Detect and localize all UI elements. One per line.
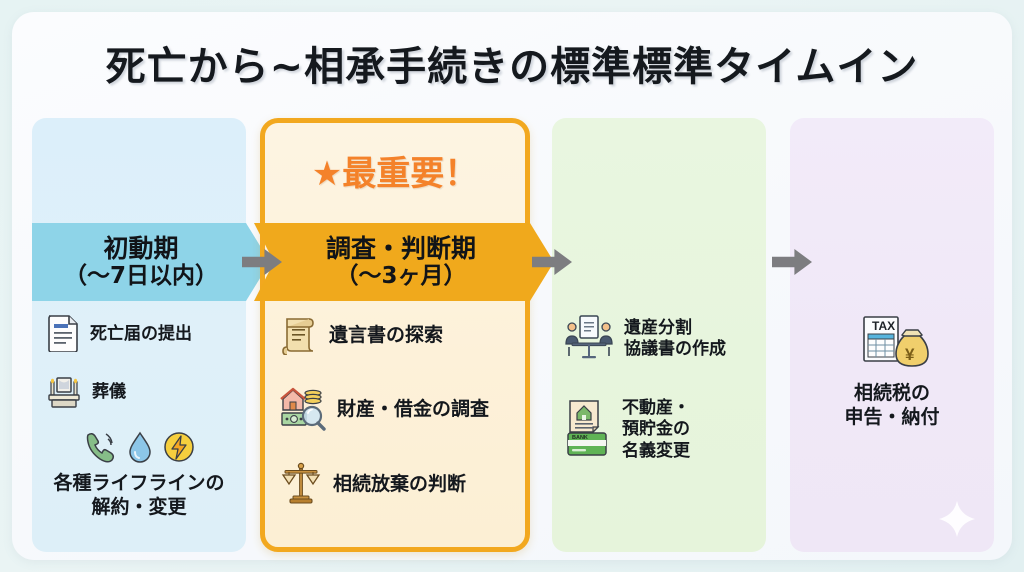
item-label: 相続放棄の判断 xyxy=(333,473,466,497)
phase-card-1[interactable]: 初動期 （〜7日以内） 死亡届の提出 xyxy=(32,118,246,552)
tax-moneybag-icon: TAX ¥ xyxy=(854,314,930,378)
phase-card-3[interactable]: 協議・手続き期 （〜10ヶ月） xyxy=(552,118,766,552)
assets-magnifier-icon xyxy=(279,385,327,435)
list-item[interactable]: 死亡届の提出 xyxy=(46,314,232,356)
phase-card-4[interactable]: 申告・納税期 （〜10ヶ月） TAX ¥ xyxy=(790,118,994,552)
item-label: 死亡届の提出 xyxy=(90,324,192,345)
list-item[interactable]: 各種ライフラインの 解約・変更 xyxy=(46,430,232,520)
item-label: 葬儀 xyxy=(92,382,126,403)
phase-banner-1: 初動期 （〜7日以内） xyxy=(32,223,270,301)
page-title: 死亡から~相承手続きの標準標準タイムイン xyxy=(0,34,1024,92)
item-label: 不動産・ 預貯金の 名義変更 xyxy=(622,398,690,462)
list-item[interactable]: 財産・借金の調査 xyxy=(279,385,511,435)
svg-text:BANK: BANK xyxy=(572,435,588,441)
phone-icon xyxy=(82,430,118,468)
funeral-altar-icon xyxy=(46,372,82,414)
list-item[interactable]: 相続放棄の判断 xyxy=(279,461,511,509)
timeline-columns: 初動期 （〜7日以内） 死亡届の提出 xyxy=(32,118,994,552)
phase-name-1: 初動期 xyxy=(103,234,178,264)
phase-name-2: 調査・判断期 xyxy=(326,234,476,264)
meeting-document-icon xyxy=(564,314,614,364)
list-item[interactable]: BANK 不動産・ 預貯金の 名義変更 xyxy=(564,398,754,462)
phase-items-4: TAX ¥ 相続税の 申告・納付 xyxy=(790,314,994,440)
lifeline-icon-group xyxy=(82,430,196,468)
item-label: 各種ライフラインの 解約・変更 xyxy=(53,472,224,520)
status-badge: ★最重要！ xyxy=(260,146,530,195)
list-item[interactable]: TAX ¥ 相続税の 申告・納付 xyxy=(800,314,984,430)
item-label: 財産・借金の調査 xyxy=(337,398,489,422)
item-label: 遺言書の探索 xyxy=(329,324,443,348)
item-label: 遺産分割 協議書の作成 xyxy=(624,318,726,361)
document-icon xyxy=(46,314,80,356)
water-drop-icon xyxy=(125,430,155,468)
phase-items-3: 遺産分割 協議書の作成 BANK xyxy=(552,314,766,496)
infographic-root: 死亡から~相承手続きの標準標準タイムイン 初動期 （〜7日以内） xyxy=(0,0,1024,572)
list-item[interactable]: 葬儀 xyxy=(46,372,232,414)
tax-icon-text: TAX xyxy=(872,319,895,333)
four-point-sparkle-icon xyxy=(938,500,976,538)
phase-items-1: 死亡届の提出 xyxy=(32,314,246,530)
electricity-icon xyxy=(162,430,196,468)
phase-period-1: （〜7日以内） xyxy=(64,263,218,290)
phase-items-2: 遺言書の探索 xyxy=(265,313,525,535)
svg-text:¥: ¥ xyxy=(905,345,915,364)
scroll-icon xyxy=(279,313,319,359)
list-item[interactable]: 遺言書の探索 xyxy=(279,313,511,359)
phase-banner-2: 調査・判断期 （〜3ヶ月） xyxy=(254,223,554,301)
deed-bankcard-icon: BANK xyxy=(564,399,612,461)
item-label: 相続税の 申告・納付 xyxy=(844,382,939,430)
phase-period-2: （〜3ヶ月） xyxy=(335,263,466,290)
list-item[interactable]: 遺産分割 協議書の作成 xyxy=(564,314,754,364)
scales-of-justice-icon xyxy=(279,461,323,509)
